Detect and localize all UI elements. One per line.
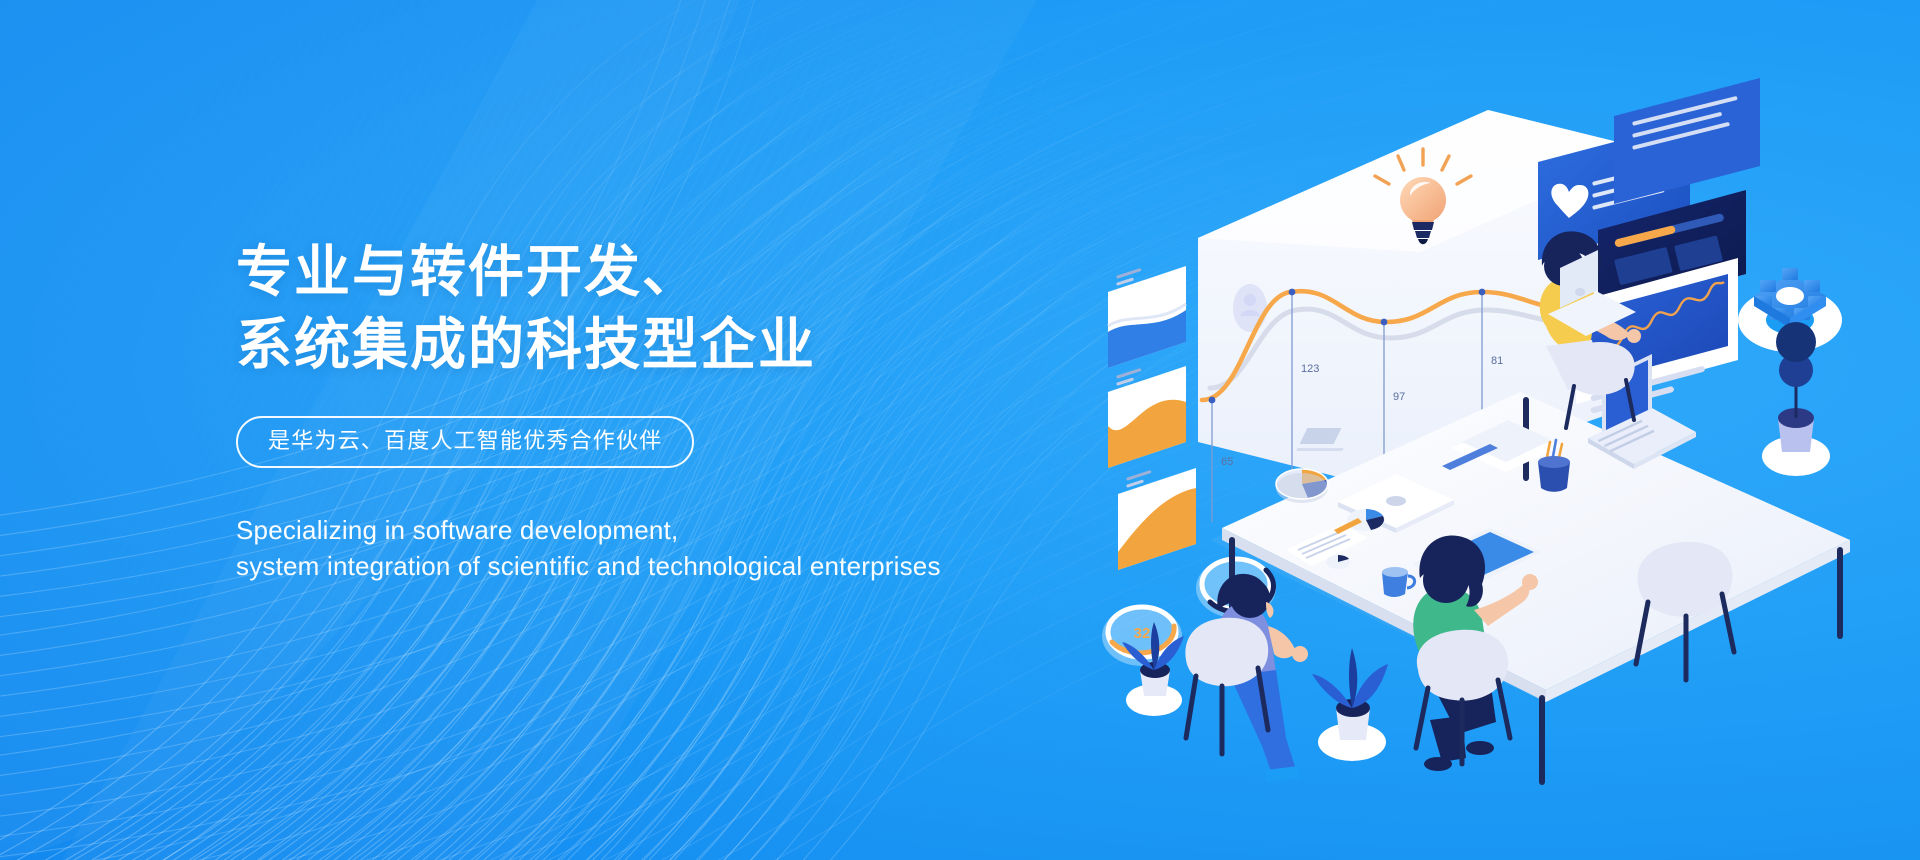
avatar-icon: [1233, 284, 1267, 332]
page-title: 专业与转件开发、 系统集成的科技型企业: [236, 236, 1196, 382]
chart-label-65: 65: [1221, 456, 1233, 468]
pie-chart-large: [1276, 469, 1328, 503]
plant-foreground: [1312, 648, 1388, 761]
gauge-value-32: 32: [1134, 625, 1151, 642]
partner-badge: 是华为云、百度人工智能优秀合作伙伴: [236, 416, 694, 468]
chart-label-97: 97: [1393, 391, 1405, 403]
pie-chart-small: [1347, 509, 1385, 531]
chart-label-123: 123: [1301, 363, 1319, 375]
hero-subtitle-english: Specializing in software development, sy…: [236, 512, 1196, 585]
hero-copy: 专业与转件开发、 系统集成的科技型企业 是华为云、百度人工智能优秀合作伙伴 Sp…: [236, 236, 1196, 584]
chair-center: [1416, 630, 1510, 764]
chart-label-81: 81: [1491, 355, 1503, 367]
hero-illustration: 65 123 97 81: [1090, 70, 1920, 770]
hero-banner: 专业与转件开发、 系统集成的科技型企业 是华为云、百度人工智能优秀合作伙伴 Sp…: [0, 0, 1920, 860]
